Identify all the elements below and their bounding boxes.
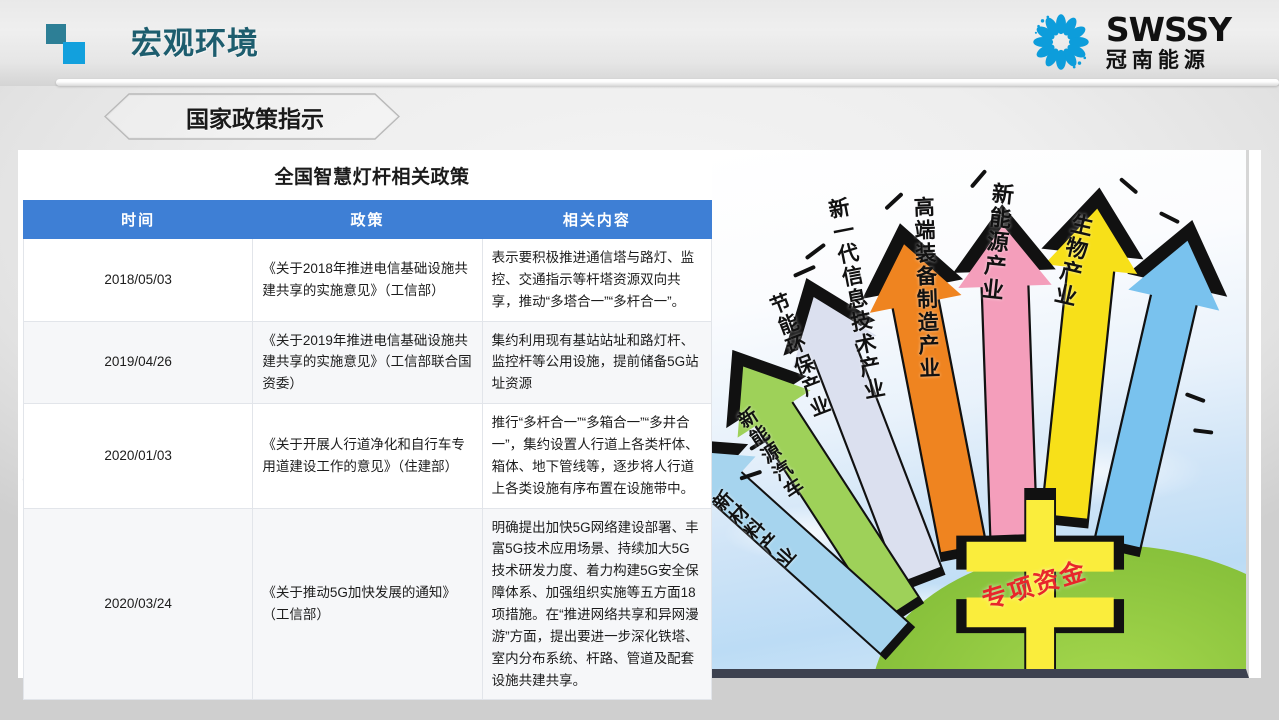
- cell-policy: 《关于推动5G加快发展的通知》（工信部）: [253, 508, 482, 700]
- cell-detail: 明确提出加快5G网络建设部署、丰富5G技术应用场景、持续加大5G技术研发力度、着…: [482, 508, 711, 700]
- column-header-date: 时间: [24, 201, 253, 239]
- cell-detail: 表示要积极推进通信塔与路灯、监控、交通指示等杆塔资源双向共享，推动“多塔合一”“…: [482, 239, 711, 322]
- cell-policy: 《关于2018年推进电信基础设施共建共享的实施意见》（工信部）: [253, 239, 482, 322]
- cell-detail: 集约利用现有基站站址和路灯杆、监控杆等公用设施，提前储备5G站址资源: [482, 321, 711, 404]
- table-row: 2019/04/26 《关于2019年推进电信基础设施共建共享的实施意见》（工信…: [24, 321, 712, 404]
- cell-date: 2018/05/03: [24, 239, 253, 322]
- column-header-detail: 相关内容: [482, 201, 711, 239]
- header-divider: [56, 79, 1279, 86]
- section-tag: 国家政策指示: [104, 93, 400, 140]
- brand-text: SWSSY 冠南能源: [1106, 13, 1231, 71]
- strategic-emerging-industries-arrows-illustration: 新能源产业 生物产业 高端装备制造产业 新一代信息技术产业 节能环保产业 新能源…: [712, 150, 1249, 678]
- page-header: 宏观环境 SWSSY: [0, 0, 1279, 86]
- cell-date: 2019/04/26: [24, 321, 253, 404]
- cell-date: 2020/03/24: [24, 508, 253, 700]
- policy-table: 时间 政策 相关内容 2018/05/03 《关于2018年推进电信基础设施共建…: [23, 200, 712, 700]
- square-upper: [46, 24, 66, 44]
- column-header-policy: 政策: [253, 201, 482, 239]
- content-panel: 全国智慧灯杆相关政策 前瞻产业研究院 产业研究院 前瞻研究院 前瞻产业研究院 产…: [18, 150, 1261, 678]
- table-row: 2020/03/24 《关于推动5G加快发展的通知》（工信部） 明确提出加快5G…: [24, 508, 712, 700]
- page-title: 宏观环境: [131, 18, 259, 63]
- table-title: 全国智慧灯杆相关政策: [42, 162, 702, 189]
- brand-subtitle: 冠南能源: [1106, 50, 1231, 71]
- table-header-row: 时间 政策 相关内容: [24, 201, 712, 239]
- section-tag-label: 国家政策指示: [104, 93, 400, 140]
- cell-policy: 《关于2019年推进电信基础设施共建共享的实施意见》（工信部联合国资委）: [253, 321, 482, 404]
- water-droplet-flower-logo-icon: [1028, 9, 1094, 75]
- cell-policy: 《关于开展人行道净化和自行车专用道建设工作的意见》（住建部）: [253, 404, 482, 508]
- arrows-group: [712, 150, 1246, 675]
- cell-detail: 推行“多杆合一”“多箱合一”“多井合一”，集约设置人行道上各类杆体、箱体、地下管…: [482, 404, 711, 508]
- two-squares-icon: [46, 24, 86, 64]
- table-row: 2020/01/03 《关于开展人行道净化和自行车专用道建设工作的意见》（住建部…: [24, 404, 712, 508]
- table-row: 2018/05/03 《关于2018年推进电信基础设施共建共享的实施意见》（工信…: [24, 239, 712, 322]
- square-lower: [63, 42, 85, 64]
- brand-name: SWSSY: [1106, 13, 1231, 46]
- brand-logo: SWSSY 冠南能源: [1028, 8, 1231, 76]
- cell-date: 2020/01/03: [24, 404, 253, 508]
